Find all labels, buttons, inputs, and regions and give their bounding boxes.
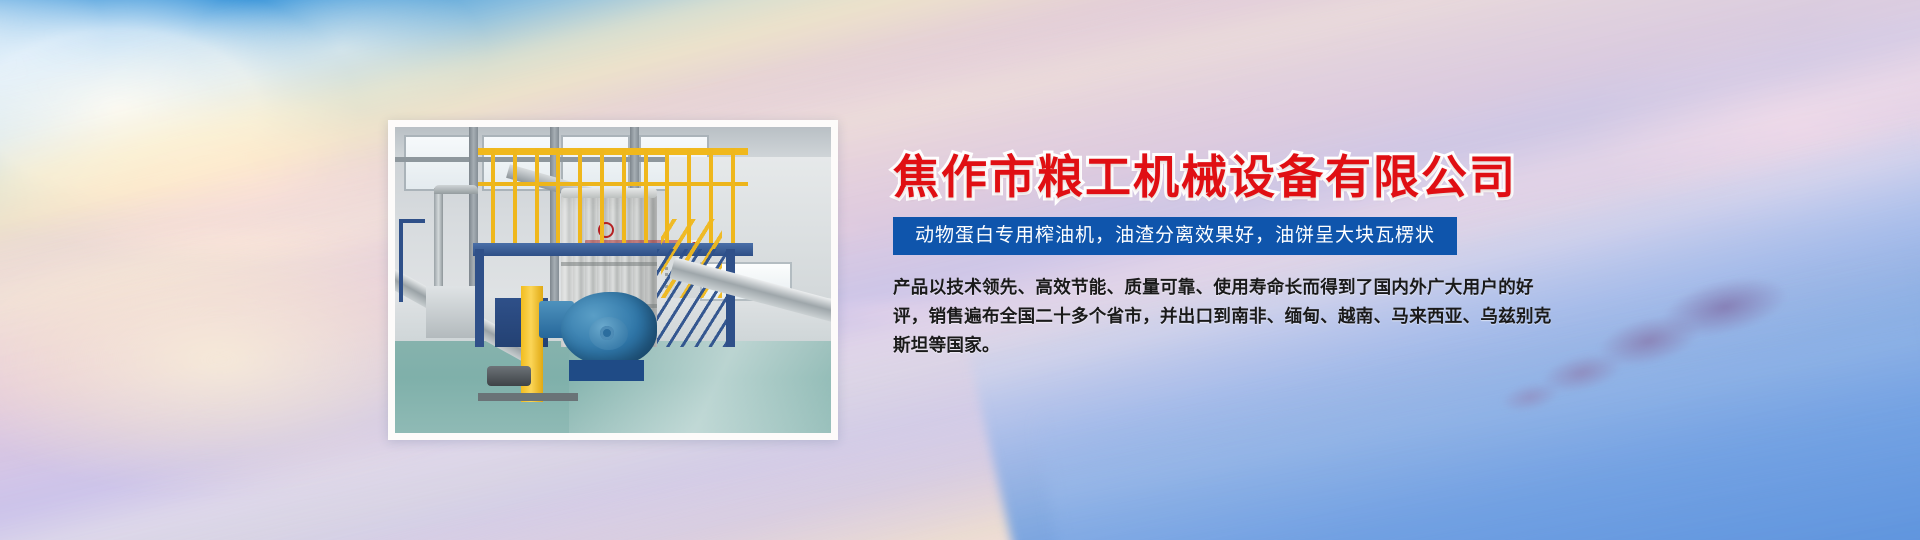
company-description: 产品以技术领先、高效节能、质量可靠、使用寿命长而得到了国内外广大用户的好评，销售…	[893, 273, 1561, 360]
factory-window-icon	[404, 135, 474, 191]
baluster-icon	[731, 148, 735, 243]
baluster-icon	[644, 148, 648, 243]
product-subtitle-bar: 动物蛋白专用榨油机，油渣分离效果好，油饼呈大块瓦楞状	[893, 217, 1457, 255]
pipe-elbow-icon	[434, 185, 478, 194]
auxiliary-unit-icon	[426, 286, 483, 338]
motor-base-icon	[478, 393, 578, 401]
baluster-icon	[491, 148, 495, 243]
platform-post-icon	[475, 249, 484, 347]
baluster-icon	[513, 148, 517, 243]
product-photo	[395, 127, 831, 433]
left-guardrail-icon	[399, 219, 425, 303]
tank-band-icon	[561, 262, 657, 266]
banner-text-block: 焦作市粮工机械设备有限公司 动物蛋白专用榨油机，油渣分离效果好，油饼呈大块瓦楞状…	[893, 150, 1593, 360]
guardrail-midbar-icon	[478, 182, 748, 186]
baluster-icon	[622, 148, 626, 243]
product-photo-frame	[388, 120, 838, 440]
drive-motor-icon	[487, 366, 531, 386]
press-hub-icon	[600, 326, 614, 340]
platform-post-icon	[726, 249, 735, 347]
press-base-icon	[569, 360, 643, 381]
company-title: 焦作市粮工机械设备有限公司	[893, 150, 1593, 204]
baluster-icon	[600, 148, 604, 243]
baluster-icon	[556, 148, 560, 243]
baluster-icon	[535, 148, 539, 243]
company-banner: 焦作市粮工机械设备有限公司 动物蛋白专用榨油机，油渣分离效果好，油饼呈大块瓦楞状…	[0, 0, 1920, 540]
baluster-icon	[578, 148, 582, 243]
